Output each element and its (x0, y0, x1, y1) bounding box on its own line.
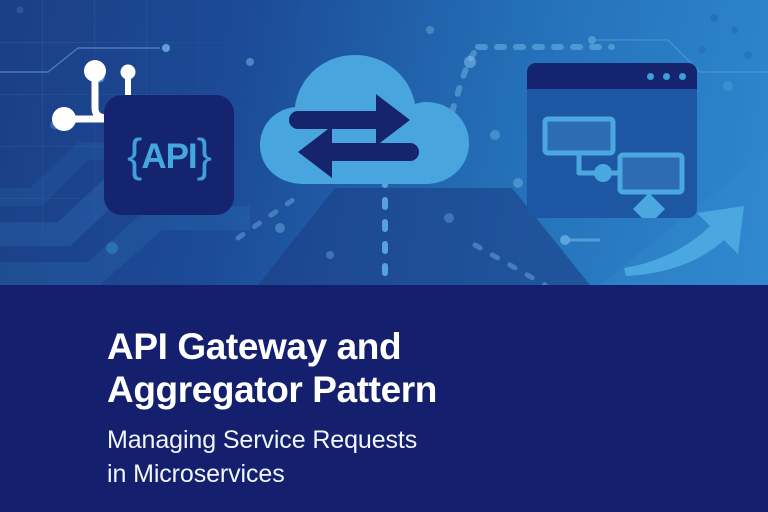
subtitle-line-1: Managing Service Requests (107, 424, 707, 458)
title-line-2: Aggregator Pattern (107, 368, 707, 411)
subtitle-line-2: in Microservices (107, 458, 707, 492)
growth-swoosh-arrow (0, 0, 768, 285)
artwork-panel: {API} (0, 0, 768, 285)
banner-graphic: {API} (0, 0, 768, 512)
page-title: API Gateway and Aggregator Pattern (107, 325, 707, 412)
swoosh-arrow-shape (624, 206, 744, 276)
title-line-1: API Gateway and (107, 325, 707, 368)
page-subtitle: Managing Service Requests in Microservic… (107, 424, 707, 491)
